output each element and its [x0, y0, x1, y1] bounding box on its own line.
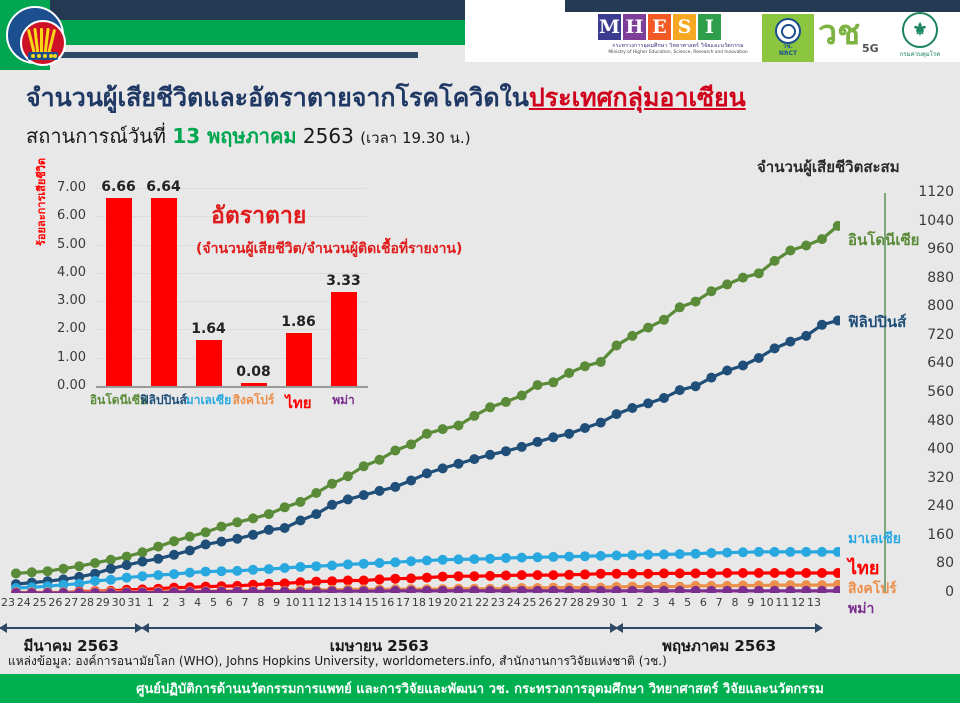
x-axis-month-bands: มีนาคม 2563เมษายน 2563พฤษภาคม 2563 — [0, 618, 960, 652]
x-axis-ticks: 2324252627282930311234567891011121314151… — [0, 596, 960, 614]
bar-value-label: 6.64 — [136, 179, 192, 195]
right-axis-title: จำนวนผู้เสียชีวิตสะสม — [757, 155, 900, 179]
bar-2 — [196, 340, 222, 386]
nrct-gear-icon — [775, 18, 801, 44]
mhesi-letter-e: E — [648, 14, 671, 40]
header-green-bar — [50, 20, 465, 45]
bar-4 — [286, 333, 312, 386]
series-label-อินโดนีเซีย: อินโดนีเซีย — [848, 228, 919, 252]
ddc-label: กรมควบคุมโรค — [900, 49, 940, 59]
bar-chart-y-label: ร้อยละการเสียชีวิต — [32, 158, 50, 246]
bar-category-label: พม่า — [312, 391, 376, 410]
mhesi-logo: MHESI กระทรวงการอุดมศึกษา วิทยาศาสตร์ วิ… — [598, 14, 758, 55]
footer-text: ศูนย์ปฏิบัติการด้านนวัตกรรมการแพทย์ และก… — [136, 678, 824, 699]
mhesi-letter-s: S — [673, 14, 696, 40]
mhesi-thai-name: กระทรวงการอุดมศึกษา วิทยาศาสตร์ วิจัยและ… — [598, 42, 758, 50]
bar-y-tick: 3.00 — [36, 293, 86, 308]
bar-1 — [151, 198, 177, 386]
bar-value-label: 0.08 — [226, 364, 282, 380]
right-axis-tick: 800 — [908, 298, 954, 314]
asean-emblem-band — [28, 52, 58, 60]
bar-chart-annotation-title: อัตราตาย — [211, 198, 306, 234]
bar-0 — [106, 198, 132, 386]
bar-chart-baseline — [96, 386, 368, 388]
ddc-emblem-icon: ⚜ — [902, 12, 938, 48]
mhesi-letter-h: H — [623, 14, 646, 40]
right-axis-tick: 560 — [908, 384, 954, 400]
right-axis-tick: 160 — [908, 527, 954, 543]
bar-gridline — [96, 358, 366, 359]
right-axis-tick: 1120 — [908, 184, 954, 200]
subtitle-year: 2563 — [303, 124, 354, 148]
bar-gridline — [96, 301, 366, 302]
subtitle-date: 13 พฤษภาคม — [172, 124, 296, 148]
right-axis-tick: 880 — [908, 270, 954, 286]
mhesi-letter-m: M — [598, 14, 621, 40]
month-arrow — [0, 627, 142, 629]
bar-y-tick: 4.00 — [36, 265, 86, 280]
bar-chart-annotation-subtitle: (จำนวนผู้เสียชีวิต/จำนวนผู้ติดเชื้อที่รา… — [196, 238, 462, 260]
nrct-english-abbr: NRCT — [779, 51, 797, 58]
right-axis-tick: 720 — [908, 327, 954, 343]
subtitle-prefix: สถานการณ์วันที่ — [26, 124, 166, 148]
nrct-logo: วช. NRCT — [762, 14, 814, 62]
series-label-มาเลเซีย: มาเลเซีย — [848, 528, 901, 550]
source-note: แหล่งข้อมูล: องค์การอนามัยโลก (WHO), Joh… — [8, 652, 667, 671]
bar-y-tick: 1.00 — [36, 350, 86, 365]
page-title-prefix: จำนวนผู้เสียชีวิตและอัตราตายจากโรคโควิดใ… — [26, 83, 529, 112]
right-axis-tick: 320 — [908, 470, 954, 486]
right-axis-tick: 400 — [908, 441, 954, 457]
x-axis-tick: 13 — [805, 596, 823, 609]
page-subtitle: สถานการณ์วันที่ 13 พฤษภาคม 2563 (เวลา 19… — [26, 120, 471, 152]
page-title-highlight: ประเทศกลุ่มอาเซียน — [529, 83, 746, 112]
header-top-band-right — [565, 0, 960, 12]
right-axis-tick: 1040 — [908, 213, 954, 229]
right-axis-tick: 480 — [908, 413, 954, 429]
right-axis-tick: 80 — [908, 555, 954, 571]
header-navy-rule — [50, 52, 418, 58]
footer-bar: ศูนย์ปฏิบัติการด้านนวัตกรรมการแพทย์ และก… — [0, 674, 960, 703]
asean-emblem-icon — [6, 6, 64, 64]
subtitle-time: (เวลา 19.30 น.) — [360, 129, 470, 147]
mhesi-letter-i: I — [698, 14, 721, 40]
bar-3 — [241, 383, 267, 386]
right-axis-tick: 640 — [908, 355, 954, 371]
month-arrow — [616, 627, 822, 629]
bar-value-label: 1.86 — [271, 314, 327, 330]
bar-y-tick: 2.00 — [36, 321, 86, 336]
right-axis-tick: 240 — [908, 498, 954, 514]
header-white-gap — [465, 0, 565, 62]
series-label-ฟิลิปปินส์: ฟิลิปปินส์ — [848, 310, 906, 334]
mhesi-english-name: Ministry of Higher Education, Science, R… — [598, 50, 758, 55]
bar-chart-inset: 7.006.005.004.003.002.001.000.00 ร้อยละก… — [36, 188, 366, 413]
ddc-logo: ⚜ กรมควบคุมโรค — [888, 12, 952, 62]
page-title: จำนวนผู้เสียชีวิตและอัตราตายจากโรคโควิดใ… — [26, 78, 746, 118]
bar-value-label: 3.33 — [316, 273, 372, 289]
mhesi-letter-blocks: MHESI — [598, 14, 758, 40]
bar-value-label: 1.64 — [181, 321, 237, 337]
bar-5 — [331, 292, 357, 386]
wch-5g-tag: 5G — [862, 42, 879, 55]
wch-5g-logo: วช 5G — [818, 16, 884, 62]
month-arrow — [142, 627, 616, 629]
bar-y-tick: 0.00 — [36, 378, 86, 393]
